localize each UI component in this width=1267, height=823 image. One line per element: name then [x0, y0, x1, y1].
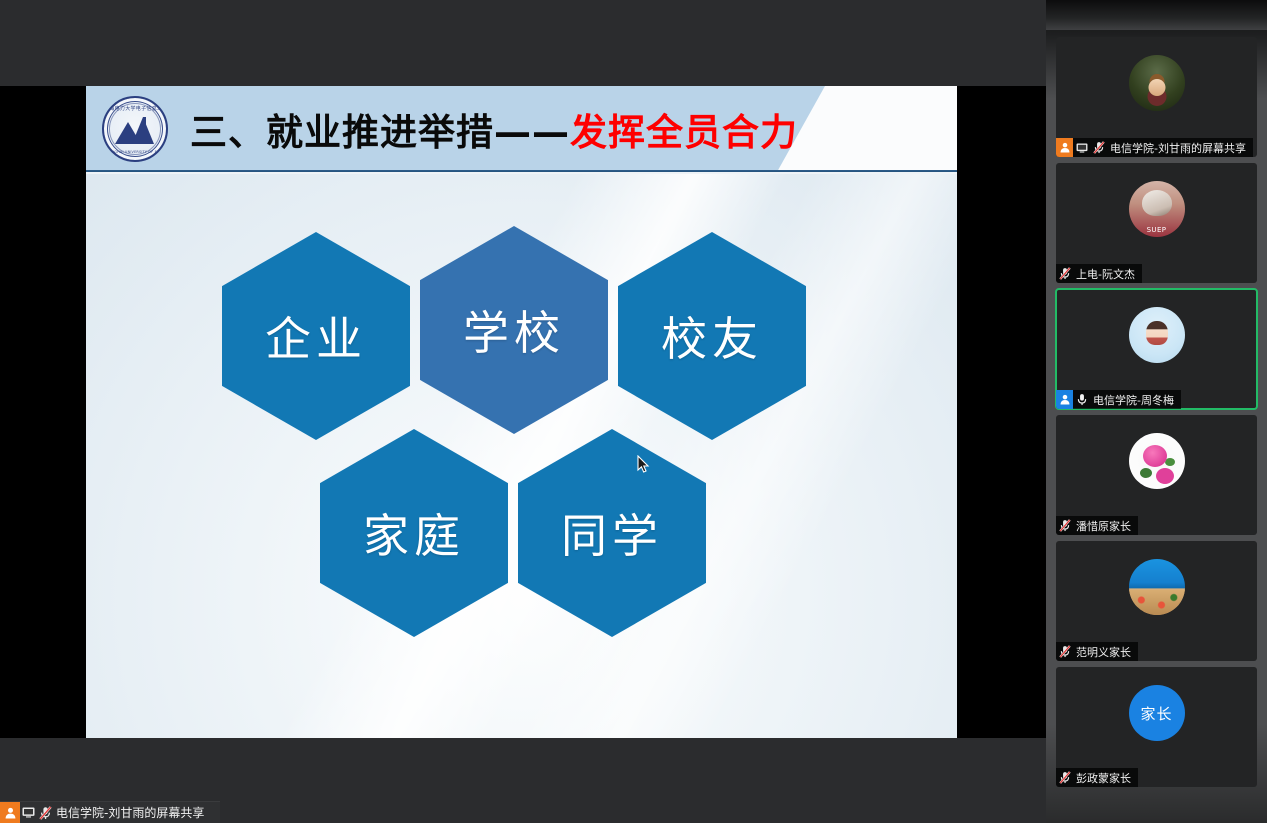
participant-name: 电信学院-周冬梅	[1090, 392, 1174, 408]
initial-avatar-blue: 家长	[1129, 685, 1185, 741]
mic-muted-icon	[37, 802, 54, 823]
participant-name: 范明义家长	[1073, 644, 1131, 660]
participant-label-bar: 潘惜原家长	[1056, 516, 1138, 535]
logo-text-bottom: SHANGHAI UNIVERSITY OF ELECTRIC POWER	[104, 150, 166, 154]
participant-label-bar: 范明义家长	[1056, 642, 1138, 661]
screen-share-icon	[1073, 138, 1090, 157]
mic-muted-icon	[1056, 642, 1073, 661]
participant-tile[interactable]: 电信学院-刘甘雨的屏幕共享	[1056, 37, 1257, 157]
host-person-icon	[1056, 138, 1073, 157]
photo-avatar-girl	[1129, 55, 1185, 111]
mic-muted-icon	[1056, 516, 1073, 535]
mic-muted-icon	[1056, 264, 1073, 283]
meeting-window: 上海电力大学电子信息工程学院 SHANGHAI UNIVERSITY OF EL…	[0, 0, 1267, 823]
participant-name: 彭政蒙家长	[1073, 770, 1131, 786]
photo-avatar-anime-girl	[1129, 307, 1185, 363]
photo-avatar-seafood	[1129, 559, 1185, 615]
screen-share-icon	[20, 802, 37, 823]
hexagon-family: 家庭	[320, 429, 508, 637]
photo-avatar-flowers	[1129, 433, 1185, 489]
shared-screen-stage[interactable]: 上海电力大学电子信息工程学院 SHANGHAI UNIVERSITY OF EL…	[0, 0, 1046, 823]
hexagon-label: 同学	[561, 500, 663, 566]
participant-tile[interactable]: 范明义家长	[1056, 541, 1257, 661]
participant-tile[interactable]: 电信学院-周冬梅	[1056, 289, 1257, 409]
photo-avatar-cat	[1129, 181, 1185, 237]
header-divider-rule	[86, 170, 957, 172]
logo-emblem-icon	[115, 116, 155, 144]
avatar-initials: 家长	[1140, 703, 1172, 724]
hexagon-enterprise: 企业	[222, 232, 410, 440]
hexagon-diagram: 企业 学校 校友 家庭 同学	[86, 174, 957, 738]
slide-title: 三、就业推进举措——发挥全员合力	[190, 86, 798, 172]
presenter-taskbar-label: 电信学院-刘甘雨的屏幕共享	[54, 804, 204, 821]
mic-muted-icon	[1056, 768, 1073, 787]
hexagon-label: 家庭	[363, 500, 465, 566]
participant-label-bar: 电信学院-刘甘雨的屏幕共享	[1056, 138, 1253, 157]
hexagon-classmates: 同学	[518, 429, 706, 637]
slide-body: 企业 学校 校友 家庭 同学	[86, 174, 957, 738]
presenter-taskbar[interactable]: 电信学院-刘甘雨的屏幕共享	[0, 801, 220, 823]
slide-title-main: 三、就业推进举措——	[190, 102, 570, 156]
logo-text-top: 上海电力大学电子信息工程学院	[104, 105, 166, 112]
mic-active-icon	[1073, 390, 1090, 409]
participant-label-bar: 上电-阮文杰	[1056, 264, 1142, 283]
presentation-slide: 上海电力大学电子信息工程学院 SHANGHAI UNIVERSITY OF EL…	[86, 86, 957, 738]
header-white-wedge	[777, 86, 957, 172]
hexagon-label: 学校	[463, 297, 565, 363]
university-logo-icon: 上海电力大学电子信息工程学院 SHANGHAI UNIVERSITY OF EL…	[102, 96, 168, 162]
host-person-icon	[1056, 390, 1073, 409]
hexagon-alumni: 校友	[618, 232, 806, 440]
slide-title-accent: 发挥全员合力	[570, 102, 798, 156]
participant-tile[interactable]: 上电-阮文杰	[1056, 163, 1257, 283]
hexagon-school: 学校	[420, 226, 608, 434]
rail-top-gradient	[1046, 0, 1267, 30]
host-person-icon	[0, 802, 20, 823]
mic-muted-icon	[1090, 138, 1107, 157]
logo-mast	[143, 117, 146, 144]
participant-label-bar: 电信学院-周冬梅	[1056, 390, 1181, 409]
participant-tile[interactable]: 潘惜原家长	[1056, 415, 1257, 535]
hexagon-label: 校友	[661, 303, 763, 369]
participant-label-bar: 彭政蒙家长	[1056, 768, 1138, 787]
participant-tile[interactable]: 家长 彭政蒙家长	[1056, 667, 1257, 787]
participant-name: 潘惜原家长	[1073, 518, 1131, 534]
participant-name: 电信学院-刘甘雨的屏幕共享	[1107, 140, 1246, 156]
slide-header-band: 上海电力大学电子信息工程学院 SHANGHAI UNIVERSITY OF EL…	[86, 86, 957, 172]
hexagon-label: 企业	[265, 303, 367, 369]
participant-name: 上电-阮文杰	[1073, 266, 1135, 282]
participant-rail[interactable]: 电信学院-刘甘雨的屏幕共享 上电-阮文杰	[1046, 0, 1267, 823]
